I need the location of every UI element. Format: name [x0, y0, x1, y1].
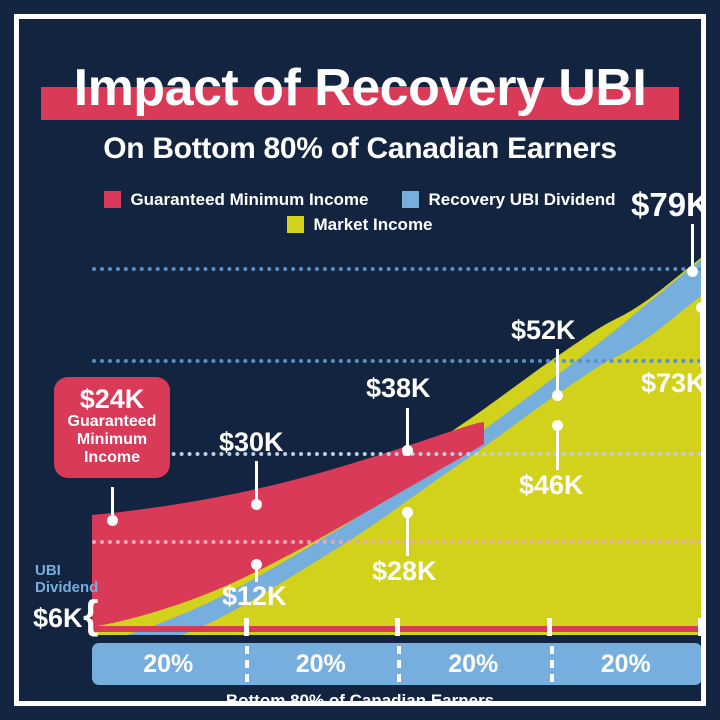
callout-dot-icon: [251, 559, 262, 570]
x-axis-tick: [244, 618, 249, 636]
legend-label: Market Income: [313, 215, 432, 235]
gridline-52k: [92, 359, 701, 363]
callout-dot-icon: [402, 507, 413, 518]
gridline-79k: [92, 267, 701, 271]
callout-stem-icon: [691, 224, 694, 269]
callout-stem-icon: [406, 408, 409, 449]
x-axis-tick: [395, 618, 400, 636]
x-axis-quintile-bar: 20% 20% 20% 20%: [92, 643, 701, 685]
page-title: Impact of Recovery UBI: [19, 57, 701, 121]
guaranteed-minimum-income-badge: $24K Guaranteed Minimum Income: [54, 377, 170, 478]
callout-value: $73K: [641, 368, 701, 399]
ubi-dividend-line-2: Dividend: [35, 580, 115, 597]
legend-label: Guaranteed Minimum Income: [130, 190, 368, 210]
callout-stem-icon: [556, 349, 559, 394]
badge-line-2: Minimum: [60, 431, 164, 449]
title-block: Impact of Recovery UBI: [19, 57, 701, 121]
badge-dot-icon: [107, 515, 118, 526]
callout-dot-icon: [552, 390, 563, 401]
callout-stem-icon: [556, 425, 559, 470]
ubi-dividend-line-1: UBI: [35, 563, 115, 580]
badge-line-3: Income: [60, 449, 164, 467]
x-axis-segment-label: 20%: [448, 650, 498, 679]
callout-dot-icon: [696, 302, 701, 313]
legend-swatch-icon: [402, 191, 419, 208]
legend: Guaranteed Minimum Income Recovery UBI D…: [19, 187, 701, 237]
legend-item-guaranteed-minimum-income: Guaranteed Minimum Income: [104, 190, 368, 210]
legend-row-1: Guaranteed Minimum Income Recovery UBI D…: [19, 187, 701, 212]
gridline-30k: [92, 540, 701, 544]
x-axis-segment-3: 20%: [397, 643, 550, 685]
x-axis-divider: [550, 646, 554, 682]
brace-icon: {: [83, 595, 99, 635]
gridline-38k: [92, 452, 701, 456]
ubi-dividend-value: $6K: [33, 603, 83, 634]
callout-stem-icon: [700, 307, 701, 367]
infographic-poster: Impact of Recovery UBI On Bottom 80% of …: [0, 0, 720, 720]
callout-value: $79K: [631, 186, 701, 224]
legend-item-recovery-ubi-dividend: Recovery UBI Dividend: [402, 190, 615, 210]
x-axis-segment-2: 20%: [245, 643, 398, 685]
legend-label: Recovery UBI Dividend: [428, 190, 615, 210]
callout-value: $46K: [519, 470, 584, 501]
x-axis-caption: Bottom 80% of Canadian Earners: [19, 691, 701, 701]
badge-value: $24K: [60, 385, 164, 413]
legend-row-2: Market Income: [19, 212, 701, 237]
legend-swatch-icon: [287, 216, 304, 233]
ubi-dividend-label: UBI Dividend: [35, 563, 115, 597]
x-axis-segment-label: 20%: [601, 650, 651, 679]
callout-value: $38K: [366, 373, 431, 404]
x-axis-segment-1: 20%: [92, 643, 245, 685]
legend-swatch-icon: [104, 191, 121, 208]
callout-value: $12K: [222, 581, 287, 612]
callout-value: $30K: [219, 427, 284, 458]
callout-value: $52K: [511, 315, 576, 346]
page-subtitle: On Bottom 80% of Canadian Earners: [19, 132, 701, 166]
legend-item-market-income: Market Income: [287, 215, 432, 235]
callout-stem-icon: [255, 461, 258, 503]
badge-line-1: Guaranteed: [60, 413, 164, 431]
callout-dot-icon: [687, 266, 698, 277]
x-axis-divider: [397, 646, 401, 682]
callout-dot-icon: [402, 445, 413, 456]
x-axis-tick: [547, 618, 552, 636]
x-axis-segment-4: 20%: [550, 643, 702, 685]
callout-dot-icon: [552, 420, 563, 431]
callout-stem-icon: [406, 512, 409, 556]
x-axis-segment-label: 20%: [296, 650, 346, 679]
x-axis-tick: [698, 618, 701, 636]
x-axis-segment-label: 20%: [143, 650, 193, 679]
x-axis-divider: [245, 646, 249, 682]
callout-dot-icon: [251, 499, 262, 510]
callout-value: $28K: [372, 556, 437, 587]
poster-inner: Impact of Recovery UBI On Bottom 80% of …: [19, 19, 701, 701]
